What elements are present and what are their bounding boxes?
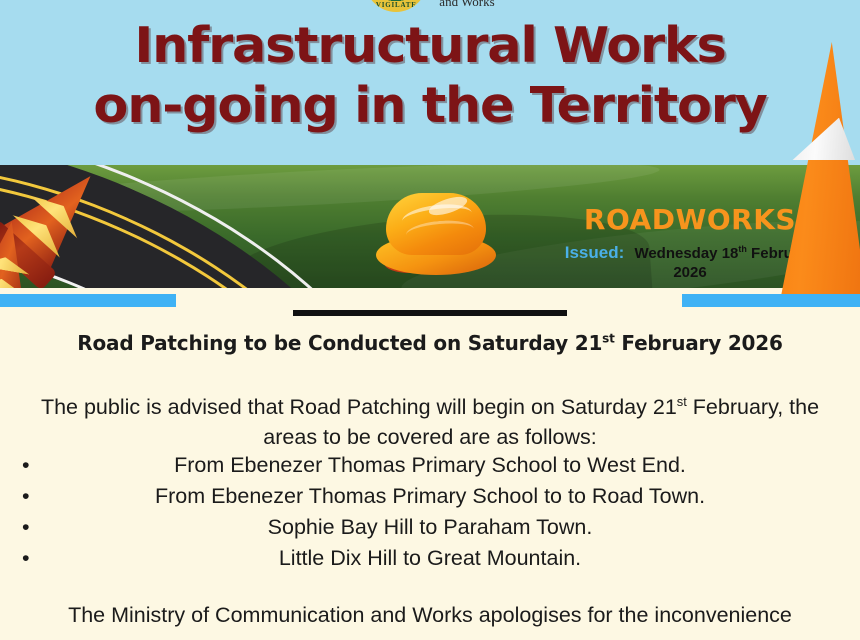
notice-closing-paragraph: The Ministry of Communication and Works …: [16, 600, 844, 630]
list-item: • From Ebenezer Thomas Primary School to…: [0, 481, 860, 512]
divider-bar-right: [682, 294, 860, 307]
poster-title: Infrastructural Works on-going in the Te…: [0, 16, 860, 136]
bullet-icon: •: [22, 450, 30, 481]
bullet-icon: •: [22, 481, 30, 512]
roadworks-scene-illustration: ROADWORKS Issued: Wednesday 18th Februar…: [0, 165, 860, 288]
headline-text-before: Road Patching to be Conducted on Saturda…: [77, 331, 602, 355]
title-line-1: Infrastructural Works: [0, 16, 860, 76]
headline-ordinal: st: [602, 331, 614, 345]
ministry-crest-row: VIGILATE and Works: [0, 0, 860, 12]
area-label: From Ebenezer Thomas Primary School to t…: [155, 484, 705, 508]
issued-date-ordinal: th: [738, 244, 747, 254]
bullet-icon: •: [22, 543, 30, 574]
notice-headline: Road Patching to be Conducted on Saturda…: [0, 331, 860, 355]
area-label: Little Dix Hill to Great Mountain.: [279, 546, 581, 570]
list-item: • From Ebenezer Thomas Primary School to…: [0, 450, 860, 481]
area-label: From Ebenezer Thomas Primary School to W…: [174, 453, 686, 477]
intro-text-before: The public is advised that Road Patching…: [41, 395, 677, 419]
divider-rule-center: [293, 310, 567, 316]
list-item: • Little Dix Hill to Great Mountain.: [0, 543, 860, 574]
hero-banner: VIGILATE and Works Infrastructural Works…: [0, 0, 860, 165]
title-line-2: on-going in the Territory: [0, 76, 860, 136]
issued-label: Issued:: [565, 243, 625, 262]
roadworks-notice-poster: VIGILATE and Works Infrastructural Works…: [0, 0, 860, 640]
headline-text-after: February 2026: [615, 331, 783, 355]
crest-motto: VIGILATE: [365, 1, 427, 9]
area-label: Sophie Bay Hill to Paraham Town.: [268, 515, 593, 539]
issued-date-day: Wednesday 18: [634, 245, 738, 262]
traffic-cone-icon-large: [776, 42, 860, 294]
coat-of-arms-icon: VIGILATE: [365, 0, 427, 12]
bullet-icon: •: [22, 512, 30, 543]
large-cone-body: [776, 42, 860, 294]
ministry-name-label: and Works: [439, 0, 494, 12]
hard-hat-icon: [376, 193, 496, 277]
intro-ordinal: st: [677, 394, 687, 409]
divider-bar-left: [0, 294, 176, 307]
notice-intro-paragraph: The public is advised that Road Patching…: [16, 387, 844, 452]
affected-areas-list: • From Ebenezer Thomas Primary School to…: [0, 450, 860, 574]
list-item: • Sophie Bay Hill to Paraham Town.: [0, 512, 860, 543]
